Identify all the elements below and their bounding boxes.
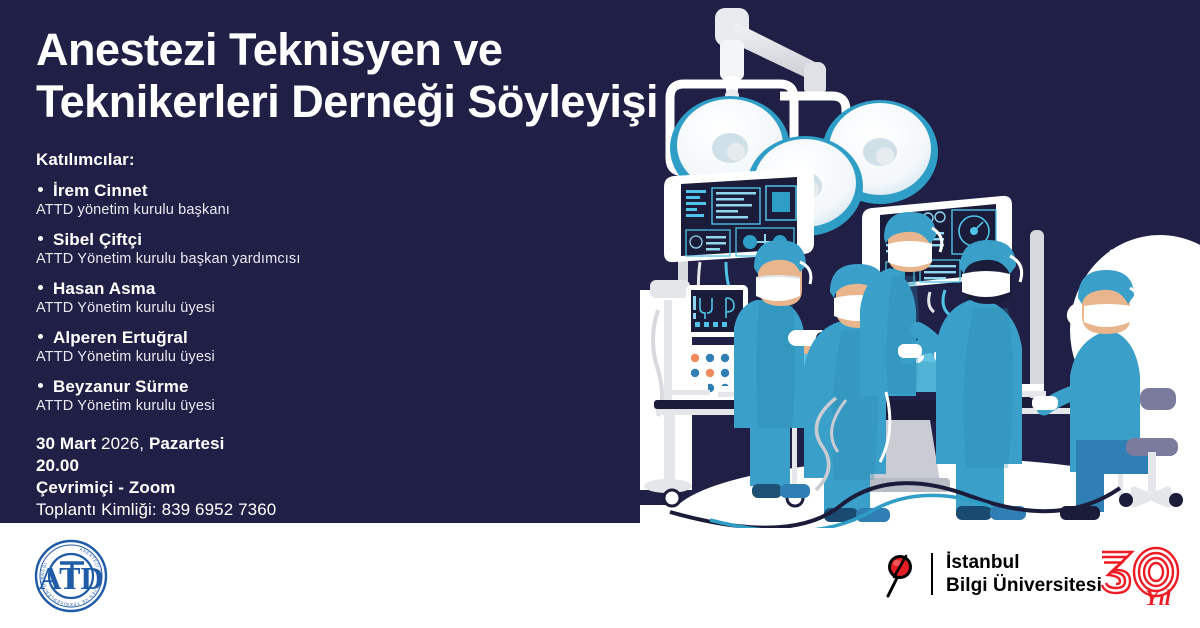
bullet-icon bbox=[38, 236, 43, 241]
title-line-2: Teknikerleri Derneği Söyleyişi bbox=[36, 76, 636, 128]
bilgi-line-2: Bilgi Üniversitesi bbox=[946, 574, 1102, 597]
bullet-icon bbox=[38, 334, 43, 339]
event-weekday: Pazartesi bbox=[149, 434, 225, 453]
participant-name-row: Hasan Asma bbox=[36, 279, 636, 299]
bilgi-wordmark: İstanbul Bilgi Üniversitesi bbox=[946, 551, 1102, 597]
list-item: Beyzanur Sürme ATTD Yönetim kurulu üyesi bbox=[36, 377, 636, 414]
event-details: 30 Mart 2026, Pazartesi 20.00 Çevrimiçi … bbox=[36, 433, 636, 521]
event-platform: Çevrimiçi - Zoom bbox=[36, 477, 636, 499]
participants-heading: Katılımcılar: bbox=[36, 150, 636, 170]
operating-room-illustration bbox=[640, 0, 1200, 528]
title-line-1: Anestezi Teknisyen ve bbox=[36, 24, 636, 76]
participant-name-row: İrem Cinnet bbox=[36, 181, 636, 201]
event-date-line: 30 Mart 2026, Pazartesi bbox=[36, 433, 636, 455]
bilgi-university-logo: İstanbul Bilgi Üniversitesi bbox=[878, 548, 1102, 600]
page-title: Anestezi Teknisyen ve Teknikerleri Derne… bbox=[36, 24, 636, 128]
event-time: 20.00 bbox=[36, 455, 636, 477]
text-column: Anestezi Teknisyen ve Teknikerleri Derne… bbox=[36, 24, 636, 521]
participant-name: Beyzanur Sürme bbox=[53, 377, 189, 397]
participant-role: ATTD Yönetim kurulu başkan yardımcısı bbox=[36, 251, 636, 267]
participant-role: ATTD Yönetim kurulu üyesi bbox=[36, 300, 636, 316]
participant-name-row: Sibel Çiftçi bbox=[36, 230, 636, 250]
participant-role: ATTD Yönetim kurulu üyesi bbox=[36, 349, 636, 365]
participant-name: Sibel Çiftçi bbox=[53, 230, 142, 250]
bilgi-line-1: İstanbul bbox=[946, 551, 1102, 574]
bilgi-pin-icon bbox=[878, 550, 918, 598]
participant-name-row: Alperen Ertuğral bbox=[36, 328, 636, 348]
list-item: Hasan Asma ATTD Yönetim kurulu üyesi bbox=[36, 279, 636, 316]
participant-name-row: Beyzanur Sürme bbox=[36, 377, 636, 397]
attd-logo: ANESTEZİ TEKNİSYEN VE TEKNİKERLERİ DERNE… bbox=[22, 537, 120, 615]
poster-canvas: Anestezi Teknisyen ve Teknikerleri Derne… bbox=[0, 0, 1200, 628]
participant-name: Hasan Asma bbox=[53, 279, 155, 299]
bullet-icon bbox=[38, 383, 43, 388]
list-item: Sibel Çiftçi ATTD Yönetim kurulu başkan … bbox=[36, 230, 636, 267]
event-date-bold: 30 Mart bbox=[36, 434, 96, 453]
bilgi-divider bbox=[931, 553, 933, 595]
list-item: Alperen Ertuğral ATTD Yönetim kurulu üye… bbox=[36, 328, 636, 365]
participant-role: ATTD yönetim kurulu başkanı bbox=[36, 202, 636, 218]
bullet-icon bbox=[38, 187, 43, 192]
participant-role: ATTD Yönetim kurulu üyesi bbox=[36, 398, 636, 414]
event-meeting-id: Toplantı Kimliği: 839 6952 7360 bbox=[36, 499, 636, 521]
participant-name: İrem Cinnet bbox=[53, 181, 148, 201]
anniversary-logo: Yıl bbox=[1096, 543, 1188, 609]
bullet-icon bbox=[38, 285, 43, 290]
event-date-rest: 2026, bbox=[96, 434, 149, 453]
anniversary-word: Yıl bbox=[1145, 585, 1172, 609]
list-item: İrem Cinnet ATTD yönetim kurulu başkanı bbox=[36, 181, 636, 218]
participant-name: Alperen Ertuğral bbox=[53, 328, 188, 348]
participants-list: İrem Cinnet ATTD yönetim kurulu başkanı … bbox=[36, 181, 636, 414]
